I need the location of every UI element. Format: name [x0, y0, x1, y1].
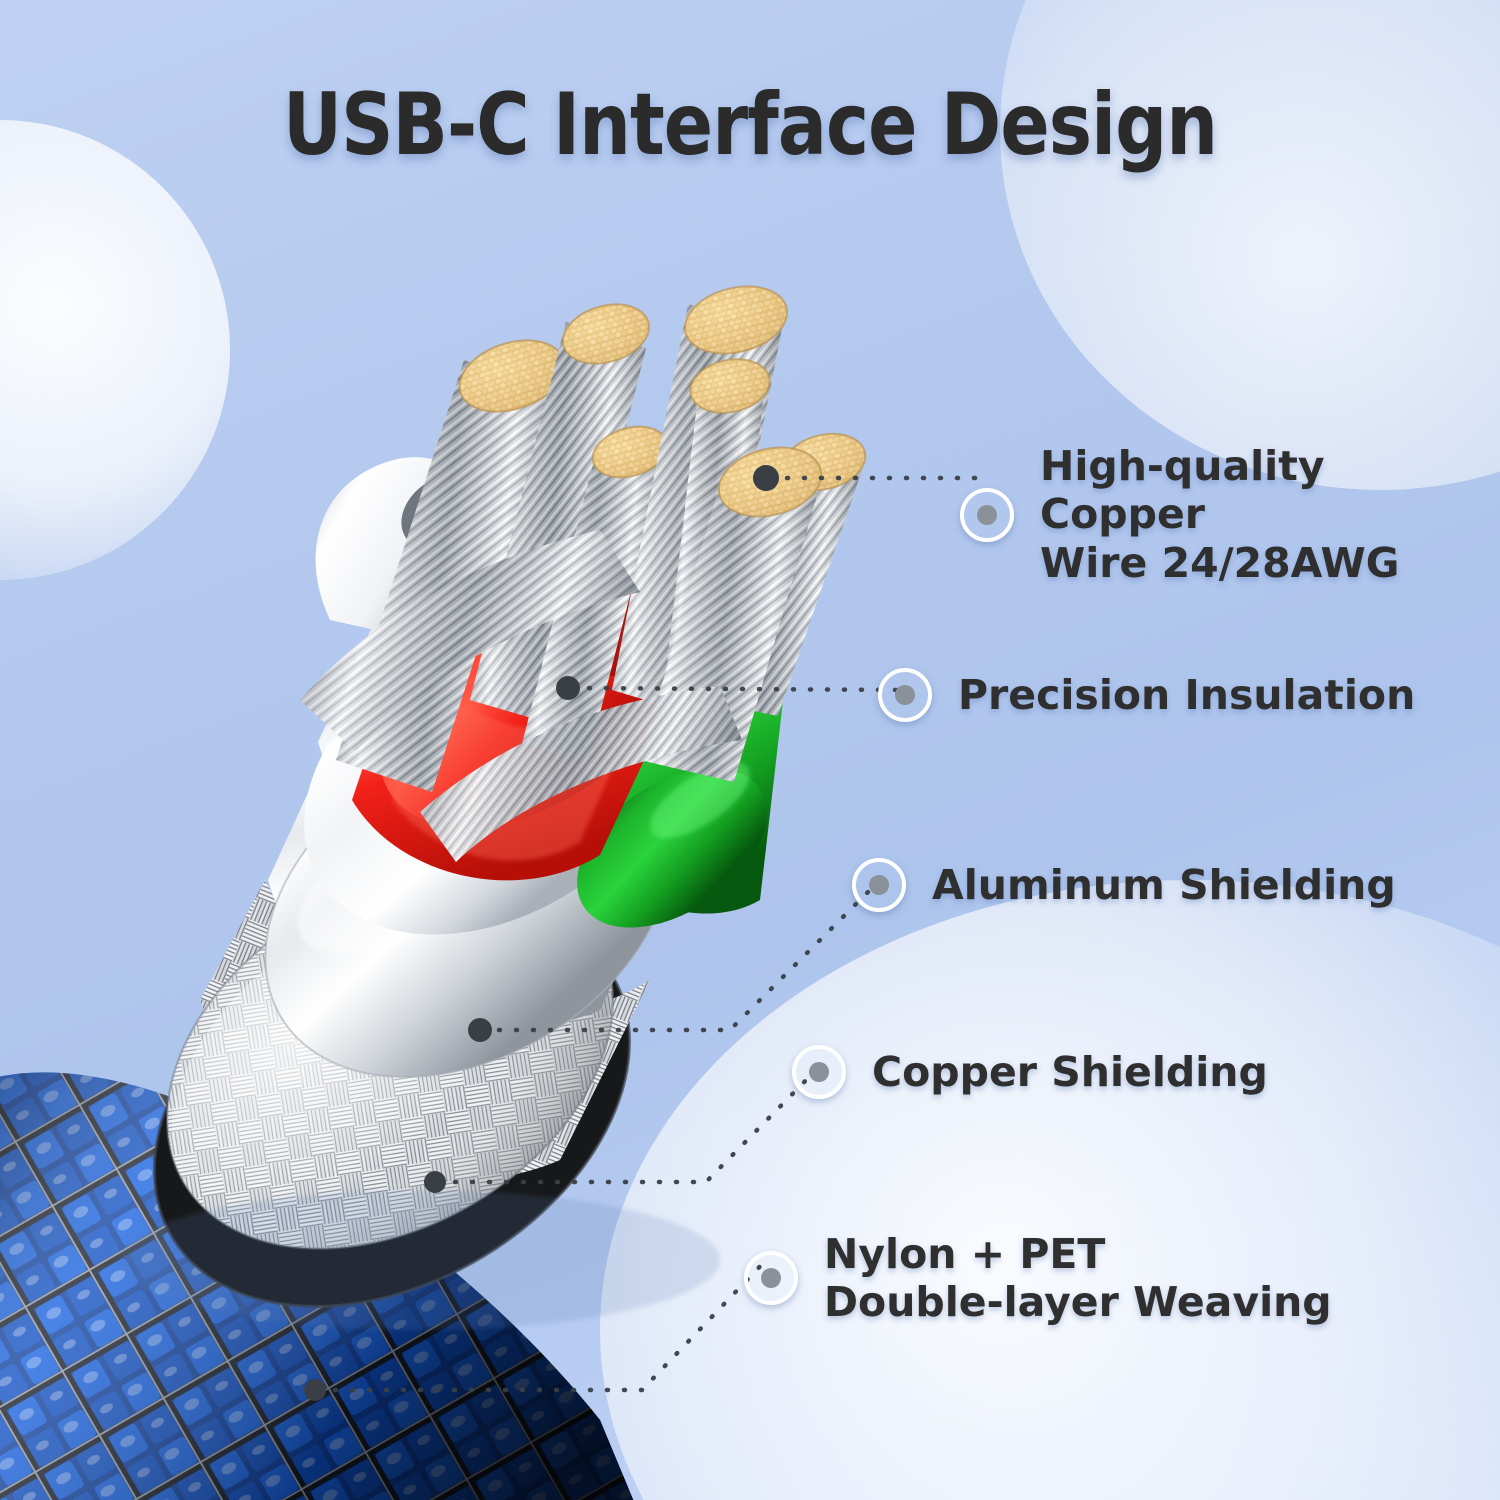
callout-label-copper-wire: High-quality Copper Wire 24/28AWG	[1040, 442, 1500, 587]
callout-copper-wire[interactable]: High-quality Copper Wire 24/28AWG	[960, 442, 1500, 587]
callout-label-nylon-weaving: Nylon + PET Double-layer Weaving	[824, 1230, 1332, 1327]
target-dot-icon	[878, 668, 932, 722]
target-dot-icon	[852, 858, 906, 912]
callout-label-aluminum-shielding: Aluminum Shielding	[932, 861, 1396, 909]
callout-copper-shielding[interactable]: Copper Shielding	[792, 1045, 1268, 1099]
callout-label-precision-insulation: Precision Insulation	[958, 671, 1415, 719]
callout-nylon-weaving[interactable]: Nylon + PET Double-layer Weaving	[744, 1230, 1332, 1327]
callout-label-copper-shielding: Copper Shielding	[872, 1048, 1268, 1096]
infographic-canvas: USB-C Interface Design	[0, 0, 1500, 1500]
target-dot-icon	[960, 488, 1014, 542]
callout-aluminum-shielding[interactable]: Aluminum Shielding	[852, 858, 1396, 912]
target-dot-icon	[792, 1045, 846, 1099]
callout-precision-insulation[interactable]: Precision Insulation	[878, 668, 1415, 722]
target-dot-icon	[744, 1251, 798, 1305]
